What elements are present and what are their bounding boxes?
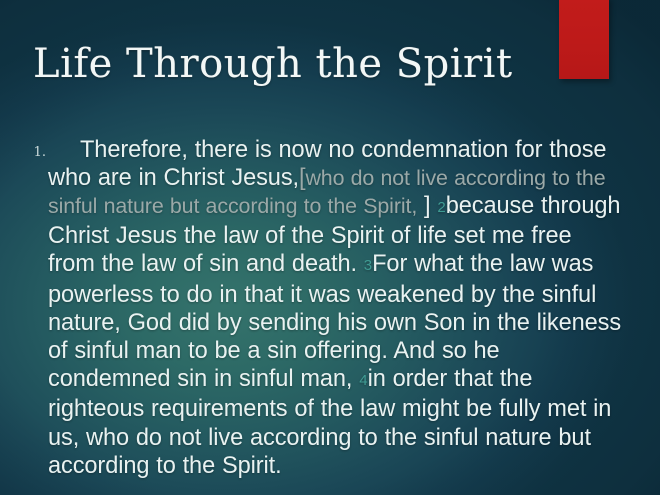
verse-number: 3	[364, 257, 372, 274]
slide-title: Life Through the Spirit	[33, 41, 543, 88]
list-marker: 1.	[28, 146, 46, 159]
verse-number: 4	[359, 372, 367, 389]
slide-body: 1. Therefore, there is now no condemnati…	[22, 112, 622, 495]
bracket-close: ]	[417, 193, 437, 219]
verse-number: 2	[437, 199, 445, 216]
scripture-paragraph: Therefore, there is now no condemnation …	[48, 136, 622, 480]
red-accent-rectangle	[559, 0, 609, 79]
list-item: 1. Therefore, there is now no condemnati…	[22, 136, 622, 480]
presentation-slide: Life Through the Spirit 1. Therefore, th…	[0, 0, 660, 495]
